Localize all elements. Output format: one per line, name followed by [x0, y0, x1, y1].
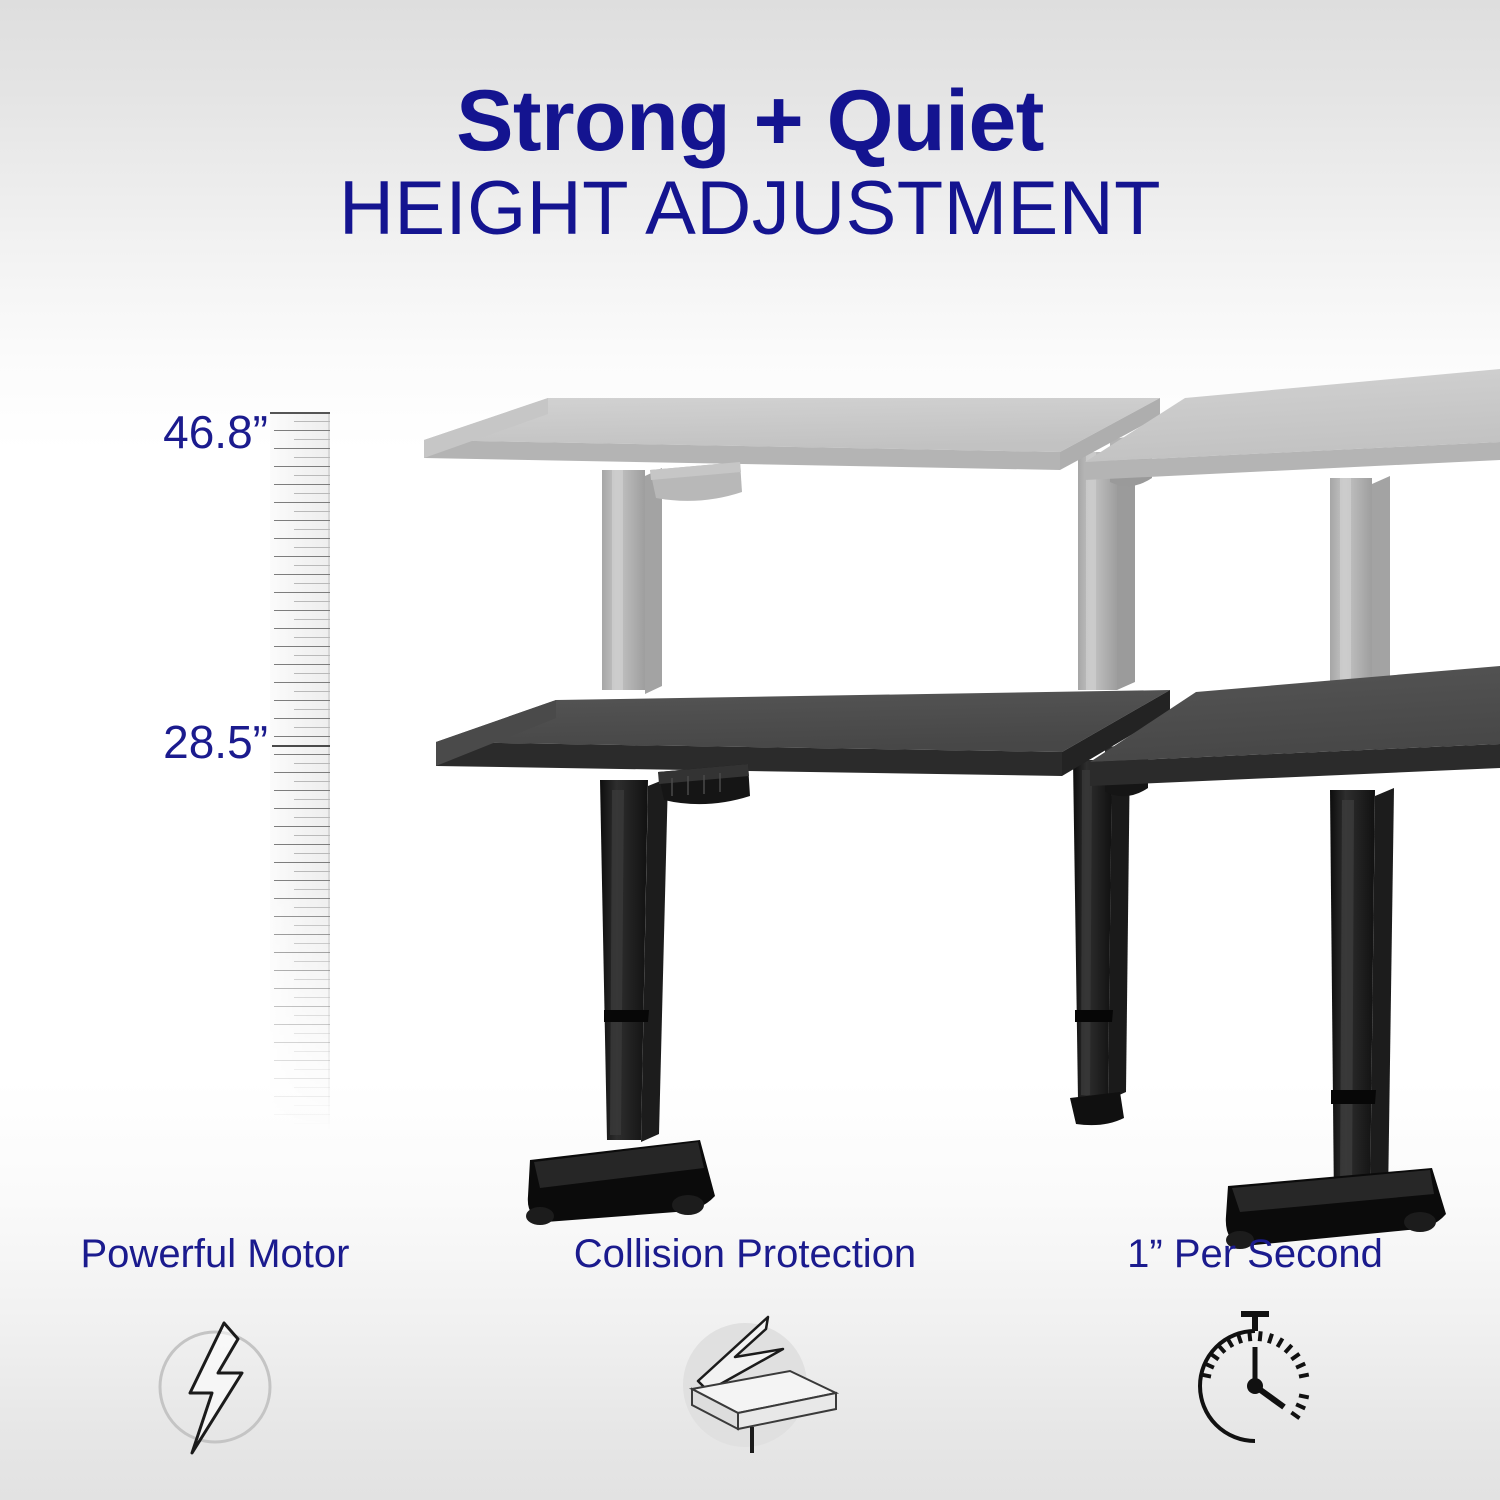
lowered-desk: [436, 666, 1500, 1249]
lowered-desk-control-panel[interactable]: [658, 764, 750, 804]
lightning-bolt-icon: [5, 1298, 425, 1474]
lowered-desk-left-leg: [526, 778, 715, 1225]
headline-block: Strong + Quiet HEIGHT ADJUSTMENT: [0, 78, 1500, 247]
ruler-tick-marks: [270, 412, 330, 1132]
max-height-label: 46.8”: [108, 405, 268, 459]
raised-desk-right-leg: [1330, 476, 1390, 702]
feature-powerful-motor: Powerful Motor: [5, 1232, 425, 1474]
lowered-desk-right-leg: [1226, 788, 1446, 1249]
feature-collision-protection: Collision Protection: [535, 1232, 955, 1474]
lowered-desk-left-top: [436, 690, 1170, 776]
raised-desk-left-leg: [602, 468, 662, 694]
feature-label: Powerful Motor: [5, 1232, 425, 1276]
feature-label: Collision Protection: [535, 1232, 955, 1276]
feature-speed: 1” Per Second: [1045, 1232, 1465, 1474]
lowered-desk-corner-leg: [1070, 740, 1148, 1125]
raised-desk-corner-leg: [1078, 432, 1152, 690]
infographic-page: Strong + Quiet HEIGHT ADJUSTMENT 46.8” 2…: [0, 0, 1500, 1500]
height-ruler: [270, 412, 330, 1132]
collision-desk-icon: [535, 1298, 955, 1474]
feature-label: 1” Per Second: [1045, 1232, 1465, 1276]
stopwatch-icon: [1045, 1298, 1465, 1474]
page-title: Strong + Quiet: [0, 78, 1500, 166]
raised-desk-left-top: [424, 398, 1160, 470]
page-subtitle: HEIGHT ADJUSTMENT: [0, 170, 1500, 248]
min-height-label: 28.5”: [108, 715, 268, 769]
raised-desk: [424, 369, 1500, 702]
raised-desk-control-panel[interactable]: [650, 462, 742, 501]
raised-desk-right-top: [1085, 369, 1500, 480]
lowered-desk-right-top: [1090, 666, 1500, 786]
